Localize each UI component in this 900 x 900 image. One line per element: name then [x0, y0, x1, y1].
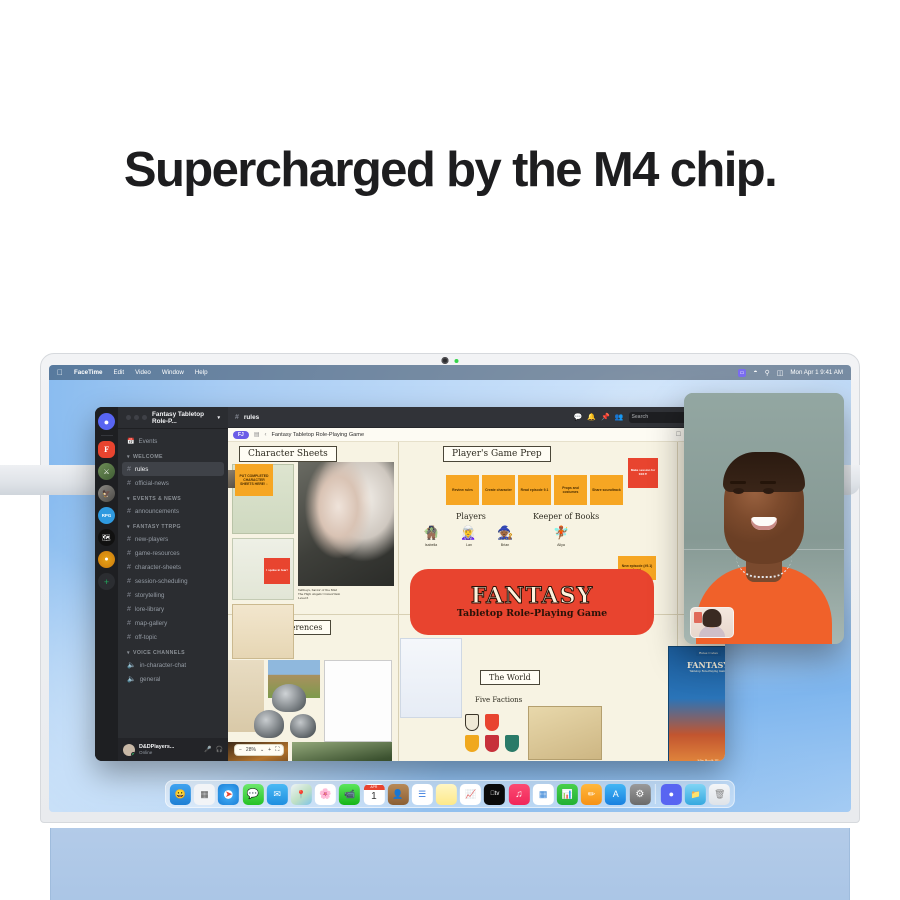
dock-icon-messages[interactable]: 💬	[242, 784, 263, 805]
reference-helmet-1[interactable]	[272, 684, 306, 712]
sidebar-item-character-sheets[interactable]: # character-sheets	[122, 560, 224, 574]
category-voice-channels[interactable]: ▾ VOICE CHANNELS	[122, 644, 224, 658]
dock-icon-pages[interactable]: ✏	[581, 784, 602, 805]
channel-label: in-character-chat	[140, 662, 186, 669]
search-placeholder: Search	[632, 414, 649, 420]
category-label: VOICE CHANNELS	[133, 650, 185, 656]
dock-icon-launchpad[interactable]: ▦	[194, 784, 215, 805]
minimize-button[interactable]	[134, 415, 139, 420]
sticky-note-share-soundtrack[interactable]: Share soundtrack	[590, 475, 623, 505]
menu-item-window[interactable]: Window	[162, 369, 184, 376]
dock-icon-keynote[interactable]: ▦	[533, 784, 554, 805]
user-info: D&DPlayers... Online	[139, 744, 200, 755]
dock-icon-music[interactable]: ♫	[508, 784, 529, 805]
page-headline: Supercharged by the M4 chip.	[0, 142, 900, 198]
reference-path-photo[interactable]	[292, 742, 392, 761]
menu-bar-status-area: ▭ ◓ ⚲ ◫ Mon Apr 1 9:41 AM	[738, 369, 843, 377]
server-icon-fantasy[interactable]: F	[98, 441, 115, 458]
zoom-out-button[interactable]: −	[239, 747, 242, 753]
macbook-air-device:  FaceTime Edit Video Window Help ▭ ◓ ⚲ …	[40, 353, 860, 823]
dock-icon-mail[interactable]: ✉	[267, 784, 288, 805]
laptop-body-lower	[50, 828, 850, 900]
dock-icon-maps[interactable]: 📍	[291, 784, 312, 805]
channel-label: off-topic	[135, 634, 157, 641]
speaker-icon: 🔈	[127, 676, 136, 683]
canvas-zoom-control[interactable]: − 28% ⌄ + ⛶	[234, 744, 284, 756]
camera-notch	[442, 356, 459, 365]
fantasy-logo[interactable]: FANTASY Tabletop Role-Playing Game	[412, 571, 652, 633]
discord-channel-sidebar[interactable]: Fantasy Tabletop Role-P... ▾ 📅 Events ▾ …	[118, 407, 228, 761]
player-avatar-isabella[interactable]: 🧌	[423, 526, 439, 539]
sticky-note-review-rules[interactable]: Review rules	[446, 475, 479, 505]
dock-icon-contacts[interactable]: 👤	[388, 784, 409, 805]
sticky-note-props-costumes[interactable]: Props and costumes	[554, 475, 587, 505]
character-sheet-doc-3[interactable]	[232, 604, 294, 659]
hash-icon: #	[127, 466, 131, 473]
hash-icon: #	[127, 620, 131, 627]
category-label: EVENTS & NEWS	[133, 496, 181, 502]
world-sketch-elf[interactable]	[400, 638, 462, 718]
zoom-level-value[interactable]: 28%	[246, 747, 256, 753]
faction-shield-1[interactable]	[465, 714, 479, 731]
category-fantasy-ttrpg[interactable]: ▾ FANTASY TTRPG	[122, 518, 224, 532]
players-heading: Players	[456, 512, 486, 521]
dock-icon-finder[interactable]: 😀	[170, 784, 191, 805]
sidebar-item-in-character-chat[interactable]: 🔈 in-character-chat	[122, 658, 224, 672]
speaker-icon: 🔈	[127, 662, 136, 669]
sidebar-item-new-players[interactable]: # new-players	[122, 532, 224, 546]
sticky-note-make-session[interactable]: Make session for 04/17!	[628, 458, 658, 488]
discord-home-icon[interactable]: ●	[98, 413, 115, 430]
calendar-icon: 📅	[127, 438, 134, 445]
sidebar-item-map-gallery[interactable]: # map-gallery	[122, 616, 224, 630]
category-events-news[interactable]: ▾ EVENTS & NEWS	[122, 490, 224, 504]
laptop-screen:  FaceTime Edit Video Window Help ▭ ◓ ⚲ …	[49, 365, 851, 812]
dock-icon-notes[interactable]	[436, 784, 457, 805]
chevron-down-icon[interactable]: ▾	[217, 415, 220, 421]
hash-icon: #	[127, 592, 131, 599]
wifi-icon[interactable]: ◓	[753, 369, 757, 376]
hash-icon: #	[127, 508, 131, 515]
zoom-in-button[interactable]: +	[268, 747, 271, 753]
dock-icon-downloads[interactable]: 📁	[685, 784, 706, 805]
channel-label: lore-library	[135, 606, 164, 613]
discord-server-rail[interactable]: ● F ⚔ 🦅 RPG 🗺 ● +	[95, 407, 118, 761]
board-file-name[interactable]: Fantasy Tabletop Role-Playing Game	[272, 432, 365, 438]
channel-label: announcements	[135, 508, 179, 515]
maximize-button[interactable]	[142, 415, 147, 420]
chevron-left-icon[interactable]: ‹	[265, 432, 267, 438]
server-icon-map[interactable]: 🗺	[98, 529, 115, 546]
menu-bar-clock[interactable]: Mon Apr 1 9:41 AM	[790, 369, 843, 376]
channel-label: game-resources	[135, 550, 180, 557]
search-input[interactable]: Search ⚲	[629, 412, 691, 423]
bell-icon[interactable]: 🔔	[587, 413, 596, 421]
avatar[interactable]	[123, 744, 135, 756]
player-avatar-brian[interactable]: 🧙🏾	[497, 526, 513, 539]
keeper-name-aliya: Aliya	[550, 543, 572, 547]
chevron-down-icon: ▾	[127, 454, 130, 460]
chevron-down-icon: ▾	[127, 650, 130, 656]
members-icon[interactable]: 👥	[615, 413, 624, 421]
faction-shield-5[interactable]	[505, 735, 519, 752]
fit-to-screen-icon[interactable]: ⛶	[275, 747, 279, 754]
channel-label: session-scheduling	[135, 578, 188, 585]
board-canvas[interactable]: Character Sheets Player's Game Prep ✨ Sp…	[228, 442, 725, 761]
faction-shield-3[interactable]	[465, 735, 479, 752]
reference-armor-plate[interactable]	[324, 660, 392, 742]
menu-item-facetime[interactable]: FaceTime	[74, 369, 102, 376]
hash-icon: #	[127, 536, 131, 543]
channel-label: rules	[135, 466, 148, 473]
pip-wall-art	[694, 612, 702, 623]
control-center-icon[interactable]: ◫	[777, 369, 784, 377]
channel-label: new-players	[135, 536, 168, 543]
menu-item-video[interactable]: Video	[135, 369, 151, 376]
dock-icon-discord[interactable]: ●	[661, 784, 682, 805]
sidebar-icon[interactable]: ▤	[254, 431, 260, 438]
online-status-dot	[131, 752, 135, 756]
pip-person-hair	[703, 609, 722, 627]
calendar-day-label: 1	[371, 790, 377, 804]
hash-icon: #	[235, 414, 239, 421]
sidebar-item-storytelling[interactable]: # storytelling	[122, 588, 224, 602]
server-rpg-label: RPG	[102, 513, 112, 518]
menu-item-help[interactable]: Help	[195, 369, 208, 376]
sticky-note-create-character[interactable]: Create character	[482, 475, 515, 505]
category-label: WELCOME	[133, 454, 163, 460]
rules-codex-sub: Tabletop Role-Playing Game	[680, 670, 725, 673]
sidebar-item-general-voice[interactable]: 🔈 general	[122, 672, 224, 686]
sticky-note-read-episode[interactable]: Read episode 9.1	[518, 475, 551, 505]
section-title-game-prep[interactable]: Player's Game Prep	[443, 446, 551, 462]
sticky-note-i-spoke-in-fear[interactable]: I spoke in fear!	[264, 558, 290, 584]
figjam-toolbar[interactable]: FJ ▤ ‹ Fantasy Tabletop Role-Playing Gam…	[228, 428, 725, 442]
user-status: Online	[139, 750, 200, 755]
dock-icon-stocks[interactable]: 📈	[460, 784, 481, 805]
five-factions-heading: Five Factions	[475, 696, 522, 704]
sticky-note-put-completed-sheets[interactable]: PUT COMPLETED CHARACTER SHEETS HERE! ↓	[235, 464, 273, 496]
rail-divider	[101, 435, 113, 436]
rules-codex-title: FANTASY	[683, 660, 725, 670]
rules-codex-badge: Rules Codex	[696, 650, 721, 656]
dock-icon-app-store[interactable]: A	[605, 784, 626, 805]
camera-active-indicator	[455, 359, 459, 363]
window-controls[interactable]	[126, 415, 147, 420]
hash-icon: #	[127, 564, 131, 571]
section-title-character-sheets[interactable]: Character Sheets	[239, 446, 337, 462]
player-name-lan: Lan	[458, 543, 480, 547]
search-icon[interactable]: ⚲	[765, 369, 770, 377]
world-map-image[interactable]	[528, 706, 602, 760]
caller-brow-right	[760, 481, 776, 485]
channel-label: character-sheets	[135, 564, 181, 571]
category-label: FANTASY TTRPG	[133, 524, 181, 530]
sidebar-item-game-resources[interactable]: # game-resources	[122, 546, 224, 560]
chevron-down-icon: ▾	[127, 524, 130, 530]
close-button[interactable]	[126, 415, 131, 420]
add-server-button[interactable]: +	[98, 573, 115, 590]
channel-header: # rules 💬 🔔 📌 👥 Search ⚲ 📥 ❓	[228, 407, 725, 428]
player-avatar-lan[interactable]: 🧝‍♀️	[460, 526, 476, 539]
figjam-badge[interactable]: FJ	[233, 431, 249, 439]
sidebar-item-session-scheduling[interactable]: # session-scheduling	[122, 574, 224, 588]
channel-label: official-news	[135, 480, 169, 487]
server-icon-rpg[interactable]: RPG	[98, 507, 115, 524]
apple-logo-icon[interactable]: 	[57, 369, 63, 377]
facetime-window[interactable]	[684, 393, 844, 644]
fantasy-logo-sub: Tabletop Role-Playing Game	[457, 609, 607, 619]
discord-window[interactable]: ● F ⚔ 🦅 RPG 🗺 ● +	[95, 407, 725, 761]
sticky-note-icon[interactable]: ☐	[676, 431, 681, 438]
events-label: Events	[138, 438, 157, 445]
server-icon-sword[interactable]: ⚔	[98, 463, 115, 480]
faction-shield-4[interactable]	[485, 735, 499, 752]
add-server-label: +	[104, 577, 109, 587]
dock-icon-apple-tv[interactable]: tv	[484, 784, 505, 805]
channel-label: storytelling	[135, 592, 165, 599]
thread-icon[interactable]: 💬	[574, 413, 583, 421]
screen-share-icon[interactable]: ▭	[738, 369, 747, 377]
rules-codex-footer: Mix Book III	[683, 759, 725, 761]
hash-icon: #	[127, 578, 131, 585]
server-icon-gold[interactable]: ●	[98, 551, 115, 568]
server-initial: F	[104, 445, 109, 454]
menu-item-edit[interactable]: Edit	[113, 369, 124, 376]
channel-list[interactable]: 📅 Events ▾ WELCOME # rules #	[118, 429, 228, 738]
dock-icon-reminders[interactable]: ☰	[412, 784, 433, 805]
hash-icon: #	[127, 634, 131, 641]
sidebar-item-off-topic[interactable]: # off-topic	[122, 630, 224, 644]
caller-hair	[723, 452, 805, 492]
dock-icon-calendar[interactable]: APR 1	[363, 784, 384, 805]
dock-icon-system-settings[interactable]: ⚙	[629, 784, 650, 805]
caller-brow-left	[730, 481, 746, 485]
sidebar-item-lore-library[interactable]: # lore-library	[122, 602, 224, 616]
reference-helmet-3[interactable]	[290, 714, 316, 738]
pin-icon[interactable]: 📌	[601, 413, 610, 421]
channel-label: general	[140, 676, 161, 683]
figjam-board-embed[interactable]: FJ ▤ ‹ Fantasy Tabletop Role-Playing Gam…	[228, 428, 725, 761]
player-name-isabella: Isabella	[420, 543, 442, 547]
chevron-down-icon: ▾	[127, 496, 130, 502]
faction-shield-2[interactable]	[485, 714, 499, 731]
dock-icon-safari[interactable]: ➤	[218, 784, 239, 805]
dock-icon-facetime[interactable]: 📹	[339, 784, 360, 805]
mic-icon[interactable]: 🎤	[204, 746, 211, 753]
caller-eye-left	[733, 488, 744, 494]
laptop-lid:  FaceTime Edit Video Window Help ▭ ◓ ⚲ …	[40, 353, 860, 823]
player-name-brian: Brian	[494, 543, 516, 547]
character-art-veltheys[interactable]	[298, 462, 394, 586]
macos-dock[interactable]: 😀 ▦ ➤ 💬 ✉ 📍 🌸 📹 APR 1	[165, 780, 735, 808]
category-welcome[interactable]: ▾ WELCOME	[122, 448, 224, 462]
world-lore-text-block[interactable]	[468, 638, 554, 694]
reference-helmet-2[interactable]	[254, 710, 284, 738]
macos-menu-bar:  FaceTime Edit Video Window Help ▭ ◓ ⚲ …	[49, 365, 851, 380]
dock-divider	[655, 784, 656, 804]
channel-label: map-gallery	[135, 620, 167, 627]
hash-icon: #	[127, 480, 131, 487]
dock-icon-photos[interactable]: 🌸	[315, 784, 336, 805]
server-name: Fantasy Tabletop Role-P...	[152, 411, 212, 425]
active-channel-name: rules	[244, 414, 259, 421]
self-view-pip[interactable]	[690, 607, 734, 638]
sidebar-item-official-news[interactable]: # official-news	[122, 476, 224, 490]
chevron-down-icon[interactable]: ⌄	[260, 747, 264, 753]
server-icon-eagle[interactable]: 🦅	[98, 485, 115, 502]
sidebar-item-rules[interactable]: # rules	[122, 462, 224, 476]
keeper-avatar-aliya[interactable]: 🧚🏾	[553, 526, 569, 539]
sidebar-item-events[interactable]: 📅 Events	[122, 434, 224, 448]
sidebar-item-announcements[interactable]: # announcements	[122, 504, 224, 518]
canvas-divider-v1	[398, 442, 399, 761]
headphones-icon[interactable]: 🎧	[216, 746, 223, 753]
fantasy-logo-main: FANTASY	[471, 585, 593, 607]
hash-icon: #	[127, 550, 131, 557]
discord-main-panel: # rules 💬 🔔 📌 👥 Search ⚲ 📥 ❓	[228, 407, 725, 761]
server-header[interactable]: Fantasy Tabletop Role-P... ▾	[118, 407, 228, 429]
keeper-heading: Keeper of Books	[533, 512, 599, 521]
caller-eye-right	[763, 488, 774, 494]
dock-icon-numbers[interactable]: 📊	[557, 784, 578, 805]
user-panel[interactable]: D&DPlayers... Online 🎤 🎧	[118, 738, 228, 761]
hash-icon: #	[127, 606, 131, 613]
dock-icon-trash[interactable]: 🗑	[709, 784, 730, 805]
character-art-caption: Veltheys, Savior of the Mist The High An…	[298, 589, 394, 600]
webcam-icon	[442, 357, 449, 364]
